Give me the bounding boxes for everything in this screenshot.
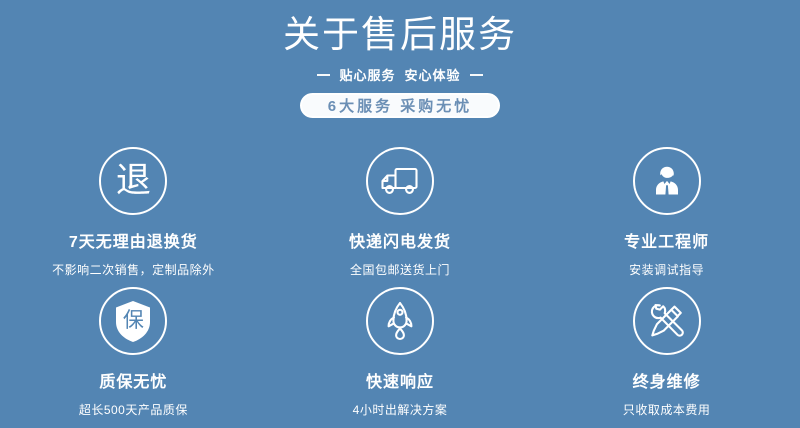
subtitle-left: 贴心服务 (339, 65, 395, 84)
rocket-icon (366, 287, 434, 355)
page-title: 关于售后服务 (0, 0, 800, 58)
service-title: 专业工程师 (624, 228, 709, 252)
service-title: 质保无忧 (99, 368, 167, 392)
service-title: 快速响应 (366, 368, 434, 392)
service-subtitle: 全国包邮送货上门 (350, 261, 450, 278)
service-subtitle: 4小时出解决方案 (353, 401, 448, 418)
services-grid: 退 7天无理由退换货 不影响二次销售，定制品除外 (0, 141, 800, 421)
shield-icon-glyph: 保 (113, 299, 153, 341)
tools-icon (633, 287, 701, 355)
service-subtitle: 超长500天产品质保 (79, 401, 188, 418)
subtitle-row: 贴心服务 安心体验 (0, 65, 800, 84)
service-badge: 6大服务 采购无忧 (300, 93, 501, 118)
service-title: 终身维修 (633, 368, 701, 392)
shield-warranty-icon: 保 (99, 287, 167, 355)
dash-left-icon (317, 74, 330, 76)
service-item-engineer: 专业工程师 安装调试指导 (533, 141, 800, 281)
service-item-warranty: 保 质保无忧 超长500天产品质保 (0, 281, 267, 421)
service-subtitle: 只收取成本费用 (623, 401, 711, 418)
subtitle-right: 安心体验 (405, 65, 461, 84)
service-item-return: 退 7天无理由退换货 不影响二次销售，定制品除外 (0, 141, 267, 281)
after-sales-service-banner: 关于售后服务 贴心服务 安心体验 6大服务 采购无忧 退 7天无理由退换货 不影… (0, 0, 800, 428)
banner-header: 关于售后服务 贴心服务 安心体验 6大服务 采购无忧 (0, 0, 800, 118)
service-item-repair: 终身维修 只收取成本费用 (533, 281, 800, 421)
return-icon: 退 (99, 147, 167, 215)
dash-right-icon (470, 74, 483, 76)
service-title: 快递闪电发货 (349, 228, 451, 252)
service-item-shipping: 快递闪电发货 全国包邮送货上门 (267, 141, 534, 281)
service-subtitle: 安装调试指导 (629, 261, 704, 278)
service-item-response: 快速响应 4小时出解决方案 (267, 281, 534, 421)
engineer-icon (633, 147, 701, 215)
service-badge-label: 6大服务 采购无忧 (328, 95, 473, 116)
truck-icon (366, 147, 434, 215)
service-subtitle: 不影响二次销售，定制品除外 (52, 261, 215, 278)
service-title: 7天无理由退换货 (69, 228, 198, 252)
return-icon-glyph: 退 (116, 164, 151, 199)
